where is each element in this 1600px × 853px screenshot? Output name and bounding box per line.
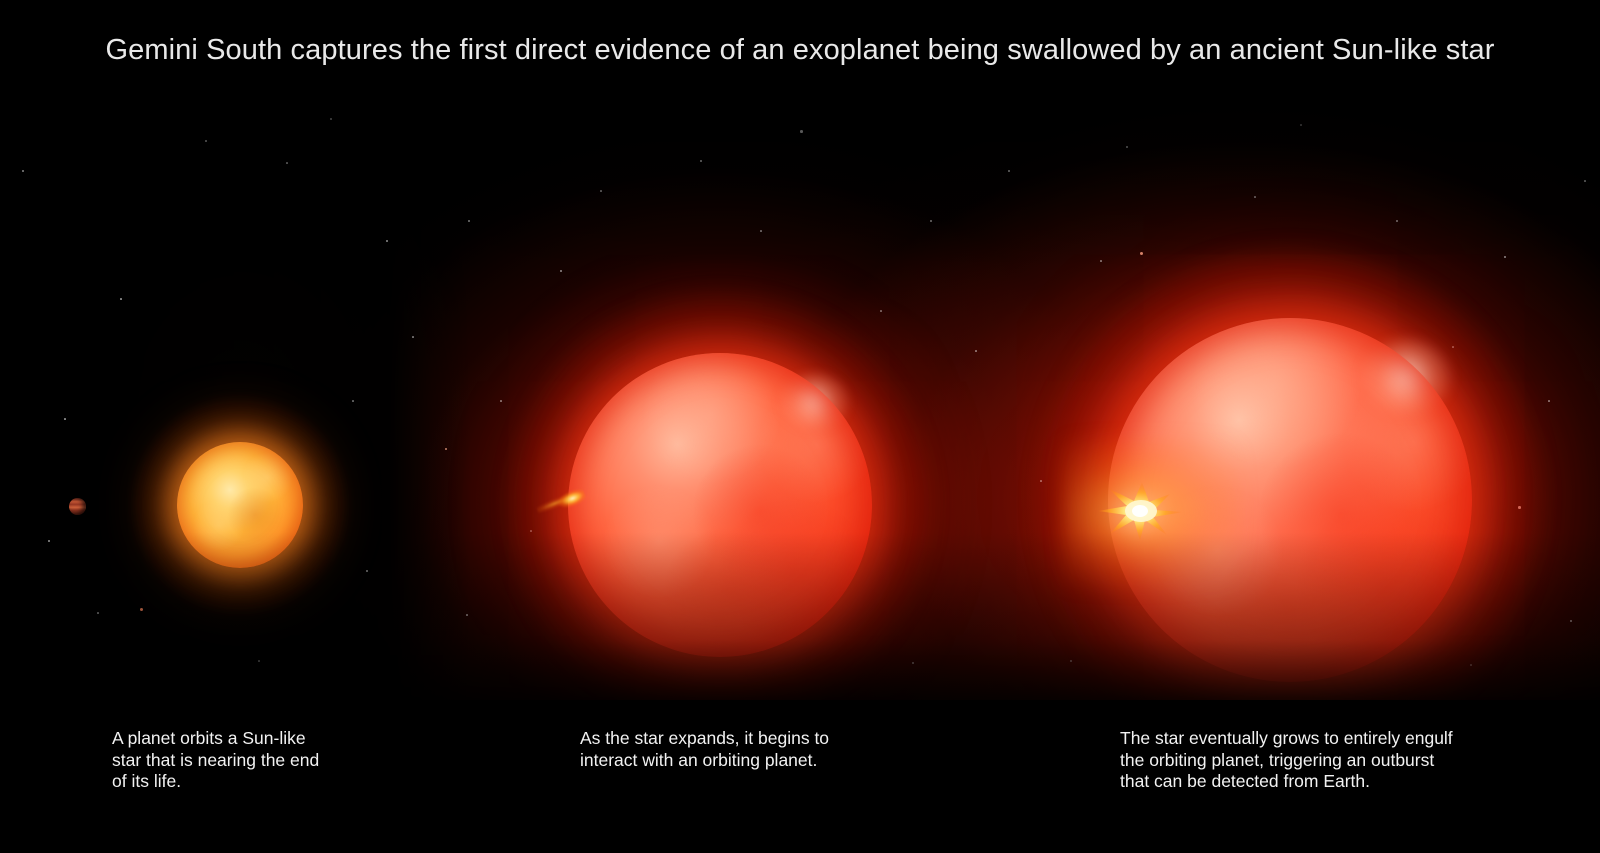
caption-band: A planet orbits a Sun-like star that is … bbox=[0, 700, 1600, 853]
illustration-scene bbox=[0, 100, 1600, 700]
page-title: Gemini South captures the first direct e… bbox=[106, 34, 1495, 67]
engulfment-outburst-flare bbox=[1096, 478, 1188, 544]
red-giant-panel2-limb-darkening bbox=[568, 353, 872, 657]
sun-like-star bbox=[177, 442, 303, 568]
caption-panel-3: The star eventually grows to entirely en… bbox=[1120, 728, 1500, 793]
infographic-root: Gemini South captures the first direct e… bbox=[0, 0, 1600, 853]
caption-panel-2: As the star expands, it begins to intera… bbox=[580, 728, 910, 771]
exoplanet bbox=[69, 498, 86, 515]
red-giant-panel2 bbox=[568, 353, 872, 657]
caption-panel-1: A planet orbits a Sun-like star that is … bbox=[112, 728, 412, 793]
sun-limb-darkening bbox=[177, 442, 303, 568]
title-band: Gemini South captures the first direct e… bbox=[0, 0, 1600, 100]
